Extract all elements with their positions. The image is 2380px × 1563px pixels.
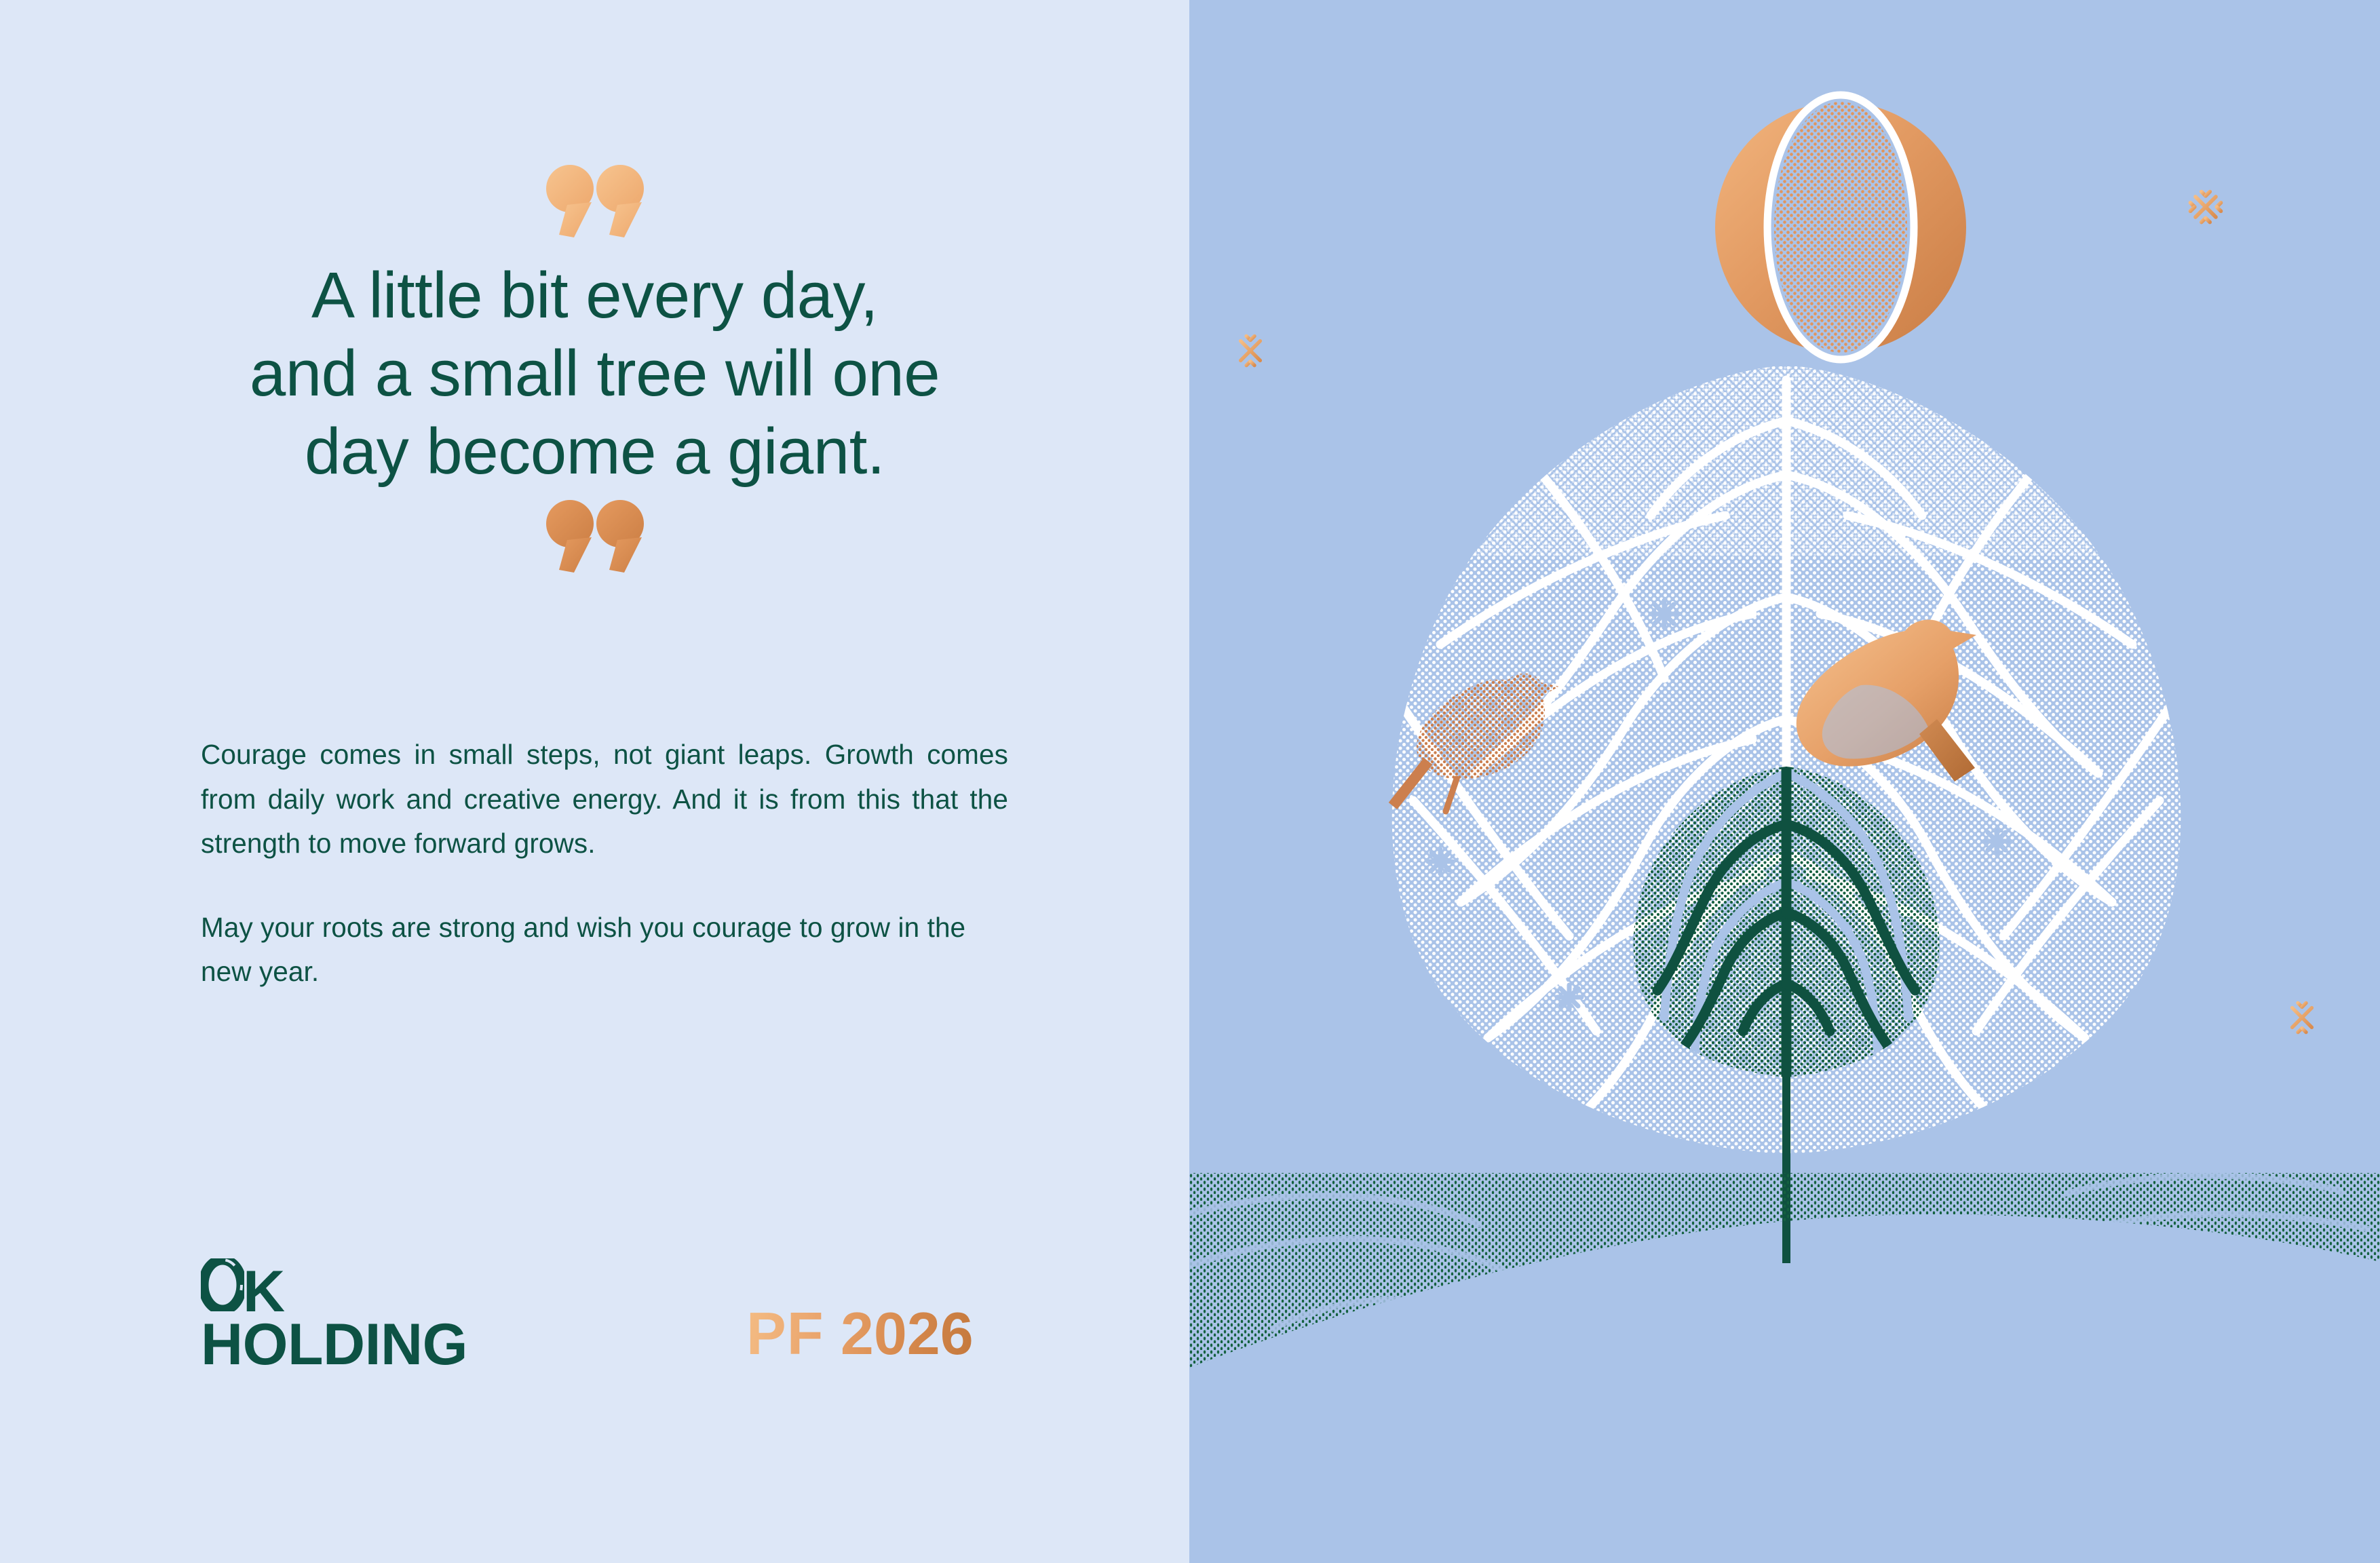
brand-logo-line-2: HOLDING	[201, 1317, 467, 1373]
brand-logo: K HOLDING	[201, 1262, 467, 1373]
pf-year-number: 2026	[841, 1300, 974, 1367]
brand-logo-line-1: K	[201, 1262, 467, 1315]
body-paragraph-2: May your roots are strong and wish you c…	[201, 906, 1008, 995]
quote-close-icon	[0, 498, 1189, 579]
quote-text: A little bit every day, and a small tree…	[0, 256, 1189, 491]
brand-o-ellipse-icon	[201, 1258, 244, 1315]
pf-year-label: PF 2026	[746, 1299, 974, 1368]
winter-leaf-tree-illustration	[1189, 0, 2380, 1563]
quote-block: A little bit every day, and a small tree…	[0, 163, 1189, 579]
snowflake-icon	[2191, 192, 2221, 223]
greeting-card: A little bit every day, and a small tree…	[0, 0, 2380, 1563]
snowflake-icon	[1237, 336, 1265, 365]
body-paragraph-1: Courage comes in small steps, not giant …	[201, 733, 1008, 866]
pf-prefix: PF	[746, 1300, 824, 1367]
tree-trunk	[1782, 1058, 1790, 1263]
brand-k-letter: K	[243, 1269, 284, 1315]
snowflake-icon	[2288, 1003, 2316, 1032]
quote-open-icon	[0, 163, 1189, 244]
sun-ellipse-overlay	[1766, 95, 1915, 360]
left-text-panel: A little bit every day, and a small tree…	[0, 0, 1189, 1563]
body-copy: Courage comes in small steps, not giant …	[201, 733, 1008, 995]
right-illustration-panel	[1189, 0, 2380, 1563]
